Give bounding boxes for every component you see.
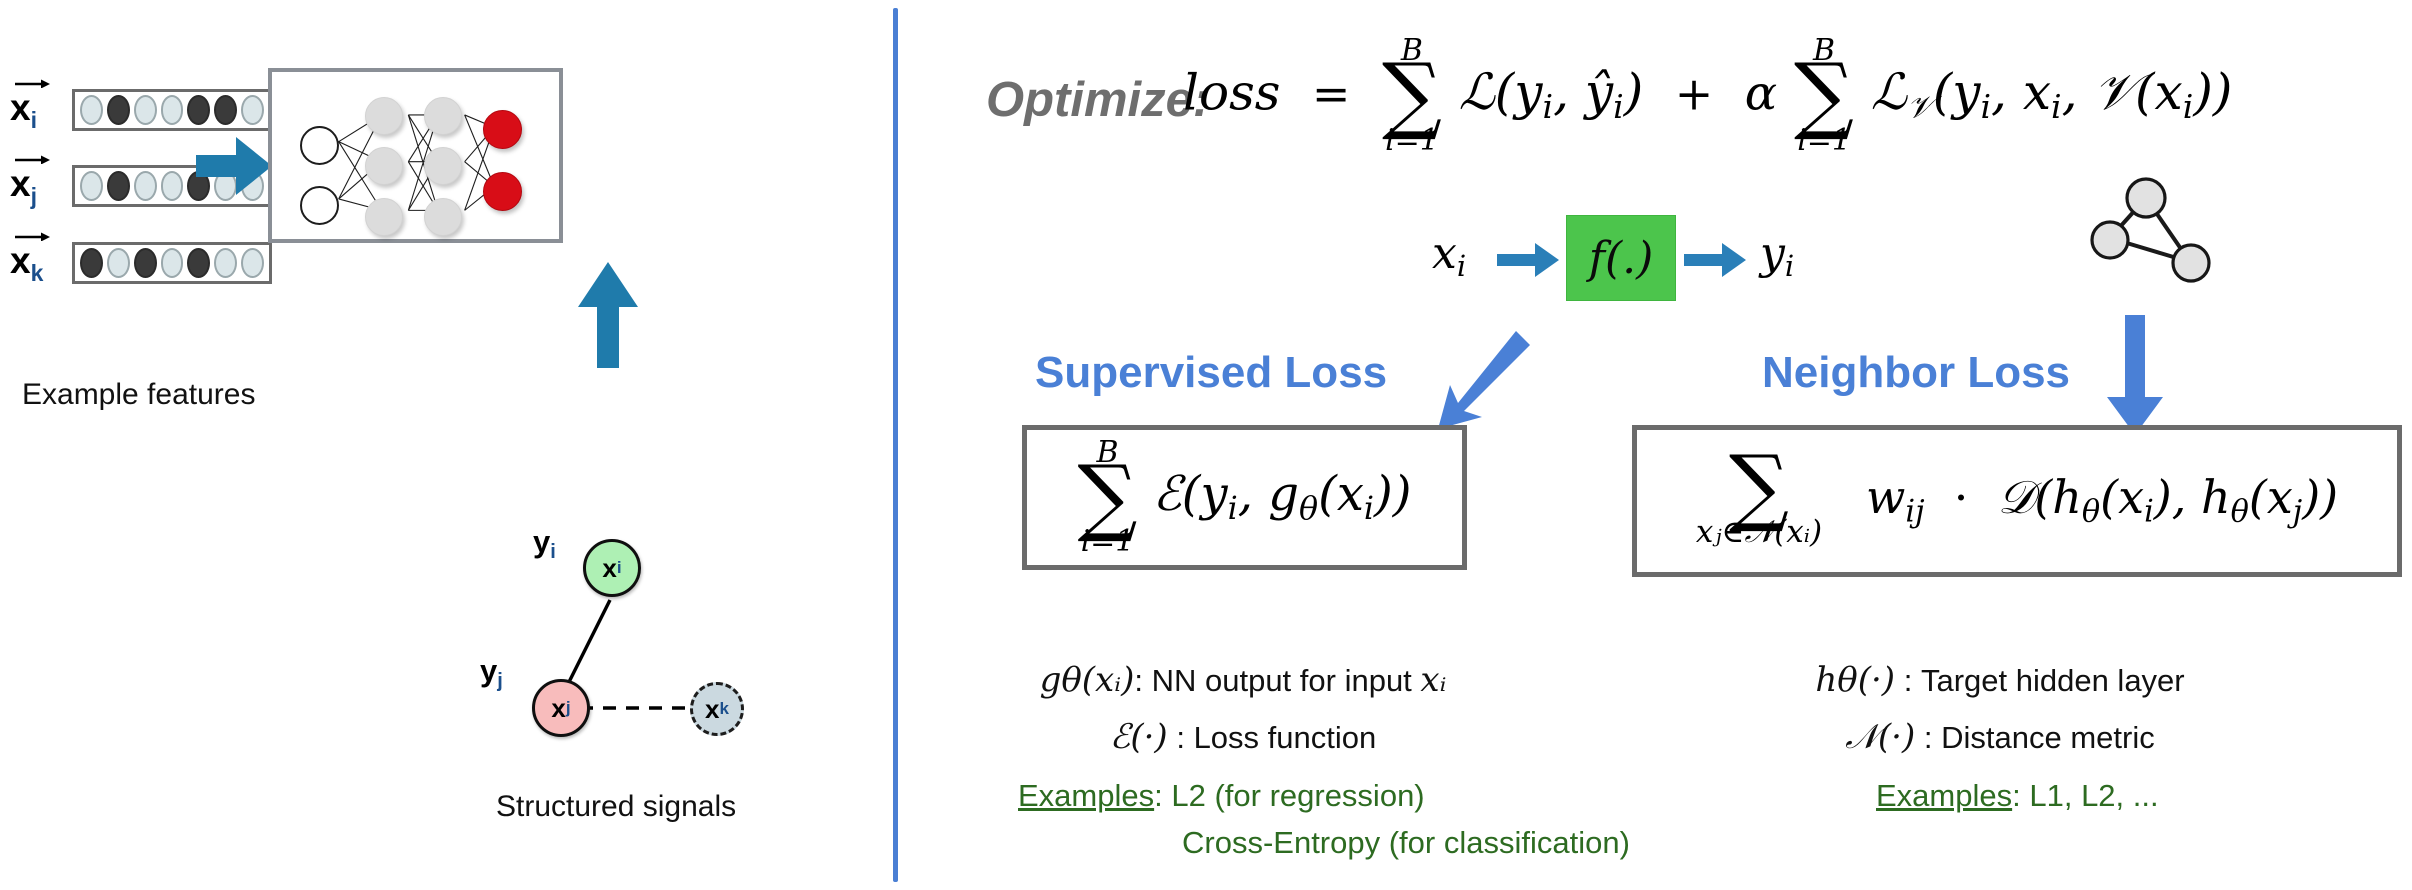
supervised-examples-label: Examples: [1018, 778, 1154, 813]
sum-lower-limit: i=1: [1797, 126, 1851, 156]
vector-arrow-icon: [14, 229, 50, 241]
vec-sub-j: j: [31, 183, 37, 209]
sigma-icon: ∑: [1382, 62, 1442, 128]
neighbor-legend-line-2: 𝒩(·) : Distance metric: [1700, 717, 2300, 757]
neighbor-legend-sep-1: :: [1904, 663, 1913, 698]
feature-bit: [187, 248, 210, 278]
flow-arrow-in-icon: [1497, 243, 1559, 277]
vec-base-j: x: [10, 163, 31, 204]
feature-vector-row-i: xi: [10, 87, 272, 133]
neighbor-graph-icon: [2090, 170, 2220, 285]
supervised-example-2: Cross-Entropy (for classification): [1182, 825, 1630, 860]
neighbor-legend-text-2: Distance metric: [1941, 720, 2155, 755]
feature-bits-k: [72, 242, 272, 284]
feature-vector-label-k: xk: [10, 242, 72, 285]
supervised-loss-arrow-icon: [1420, 325, 1530, 435]
sum-lower-limit: i=1: [1081, 527, 1135, 557]
feature-bit: [80, 95, 103, 125]
supervised-examples-line-2: Cross-Entropy (for classification): [1182, 825, 1630, 861]
feature-bit: [107, 171, 130, 201]
feature-bit: [134, 95, 157, 125]
neighbor-examples-label: Examples: [1876, 778, 2012, 813]
graph-node-xk-sub: k: [720, 699, 729, 719]
nn-hidden-node: [365, 198, 403, 236]
nn-input-node: [300, 186, 339, 225]
neighbor-formula-box: ∑ xⱼ∈𝒩(xᵢ) wij · 𝒟(hθ(xi), hθ(xj)): [1632, 425, 2402, 577]
sum-symbol-neighbor: ∑ xⱼ∈𝒩(xᵢ): [1696, 454, 1822, 549]
nn-output-node: [483, 110, 522, 149]
structured-signals-caption: Structured signals: [496, 790, 736, 824]
nn-hidden-node: [365, 147, 403, 185]
neighbor-examples-line-1: Examples: L1, L2, ...: [1876, 778, 2159, 814]
sum-lower-limit: i=1: [1385, 126, 1439, 156]
supervised-legend-trailing-1: xᵢ: [1420, 660, 1446, 700]
neighbor-legend-text-1: Target hidden layer: [1921, 663, 2185, 698]
sigma-icon: ∑: [1794, 62, 1854, 128]
feature-bit: [214, 248, 237, 278]
supervised-loss-heading: Supervised Loss: [1035, 348, 1387, 398]
signals-to-network-arrow-icon: [578, 262, 638, 368]
neighbor-loss-heading: Neighbor Loss: [1762, 348, 2070, 398]
neighbor-example-1: L1, L2, ...: [2029, 778, 2158, 813]
neighbor-legend-sep-2: :: [1924, 720, 1933, 755]
feature-vector-label-i: xi: [10, 89, 72, 132]
panel-divider: [893, 8, 898, 882]
model-function-label: f(.): [1589, 233, 1654, 284]
graph-label-yi-sub: i: [550, 541, 556, 563]
feature-bit: [161, 171, 184, 201]
graph-node-xj-base: x: [551, 693, 565, 724]
flow-input-symbol: xi: [1432, 228, 1466, 283]
feature-bit: [241, 95, 264, 125]
feature-bit: [80, 171, 103, 201]
sigma-icon: ∑: [1078, 464, 1138, 530]
supervised-formula-box: B ∑ i=1 ℰ(yi, gθ(xi)): [1022, 425, 1467, 570]
flow-input-sub: i: [1457, 249, 1466, 283]
feature-bit: [161, 248, 184, 278]
supervised-legend-sep-1: :: [1134, 663, 1143, 698]
supervised-legend-text-2: Loss function: [1194, 720, 1377, 755]
main-loss-equation: loss = B ∑ i=1 ℒ(yi, ŷi) + α B ∑ i=1 ℒ𝒱(…: [1183, 36, 2232, 156]
vec-base-i: x: [10, 87, 31, 128]
graph-label-yj-sub: j: [497, 670, 503, 692]
vec-base-k: x: [10, 240, 31, 281]
vector-arrow-icon: [14, 76, 50, 88]
nn-hidden-node: [424, 97, 462, 135]
graph-node-xk: xk: [690, 682, 744, 736]
sum-symbol-term1: B ∑ i=1: [1382, 36, 1442, 156]
neighbor-legend-symbol-1: hθ(·): [1815, 660, 1895, 700]
feature-bit: [107, 95, 130, 125]
vector-arrow-icon: [14, 152, 50, 164]
flow-arrow-out-icon: [1684, 243, 1746, 277]
nn-hidden-node: [424, 147, 462, 185]
flow-output-symbol: yi: [1760, 228, 1794, 283]
supervised-legend-sep-2: :: [1176, 720, 1185, 755]
feature-vector-label-j: xj: [10, 165, 72, 208]
feature-bit: [241, 248, 264, 278]
feature-bits-i: [72, 89, 272, 131]
sum-symbol-term2: B ∑ i=1: [1794, 36, 1854, 156]
feature-bit: [187, 95, 210, 125]
feature-bit: [161, 95, 184, 125]
supervised-formula: B ∑ i=1 ℰ(yi, gθ(xi)): [1078, 438, 1412, 558]
feature-bit: [80, 248, 103, 278]
graph-label-yj-base: y: [480, 653, 497, 688]
flow-output-sub: i: [1785, 249, 1794, 283]
graph-label-yj: yj: [480, 653, 503, 693]
supervised-example-1: L2 (for regression): [1171, 778, 1424, 813]
neighbor-formula: ∑ xⱼ∈𝒩(xᵢ) wij · 𝒟(hθ(xi), hθ(xj)): [1696, 454, 2338, 549]
neighbor-loss-arrow-icon: [2105, 315, 2165, 435]
optimize-label: Optimize:: [986, 72, 1209, 128]
features-to-network-arrow-icon: [196, 133, 272, 199]
nn-hidden-node: [365, 97, 403, 135]
feature-bit: [107, 248, 130, 278]
neighbor-legend-line-1: hθ(·) : Target hidden layer: [1700, 660, 2300, 700]
graph-node-xj-sub: j: [566, 698, 571, 718]
nn-hidden-node: [424, 198, 462, 236]
sigma-icon: ∑: [1729, 454, 1789, 520]
feature-bit: [134, 248, 157, 278]
diagram-canvas: xi xj: [0, 0, 2412, 890]
sum-lower-limit: xⱼ∈𝒩(xᵢ): [1696, 517, 1822, 548]
neural-network-box: [268, 68, 563, 243]
supervised-legend-symbol-2: ℰ(·): [1110, 717, 1168, 757]
supervised-legend-symbol-1: gθ(xᵢ): [1040, 660, 1135, 700]
graph-node-xj: xj: [532, 679, 590, 737]
vec-sub-k: k: [31, 260, 44, 286]
graph-node-xi-sub: i: [617, 558, 622, 578]
supervised-legend-line-1: gθ(xᵢ): NN output for input xᵢ: [978, 660, 1508, 700]
feature-bit: [214, 95, 237, 125]
sum-symbol-supervised: B ∑ i=1: [1078, 438, 1138, 558]
nn-output-node: [483, 172, 522, 211]
supervised-legend-line-2: ℰ(·) : Loss function: [978, 717, 1508, 757]
nn-input-node: [300, 126, 339, 165]
graph-node-xi-base: x: [602, 553, 616, 584]
feature-bit: [134, 171, 157, 201]
supervised-examples-line-1: Examples: L2 (for regression): [1018, 778, 1425, 814]
feature-vector-row-k: xk: [10, 240, 272, 286]
graph-label-yi-base: y: [533, 524, 550, 559]
supervised-legend-text-1: NN output for input: [1152, 663, 1412, 698]
example-features-caption: Example features: [22, 378, 255, 412]
flow-input-base: x: [1432, 228, 1457, 279]
flow-output-base: y: [1760, 228, 1785, 279]
graph-label-yi: yi: [533, 524, 556, 564]
neighbor-legend-symbol-2: 𝒩(·): [1845, 717, 1915, 757]
vec-sub-i: i: [31, 107, 37, 133]
graph-node-xk-base: x: [705, 694, 719, 725]
model-function-box: f(.): [1566, 215, 1676, 301]
graph-node-xi: xi: [583, 539, 641, 597]
